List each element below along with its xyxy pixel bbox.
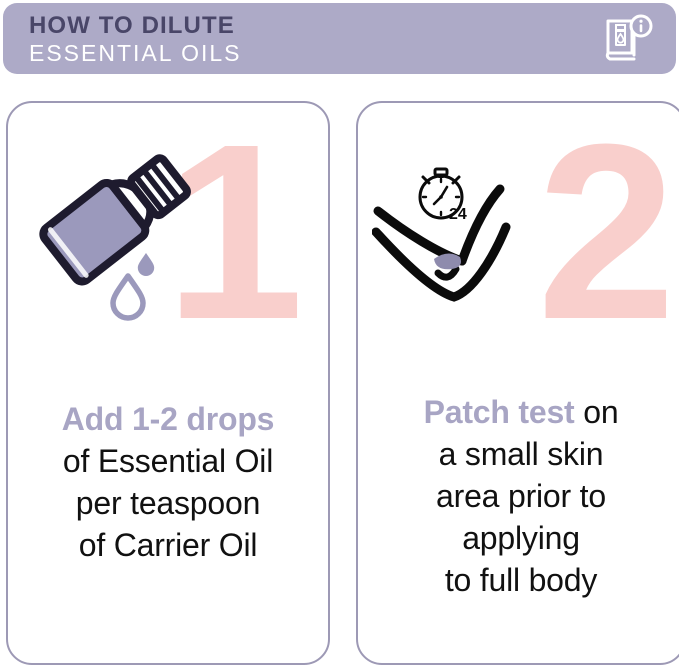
page-subtitle: ESSENTIAL OILS [29,39,242,67]
step-1-line-1: Add 1-2 drops [14,398,322,440]
step-number-2: 2 [537,107,676,357]
step-1-line-2: of Essential Oil [14,440,322,482]
stopwatch-hours-label: 24 [449,206,467,223]
step-2-line-1: Patch test on [364,391,678,433]
step-2-line-3: area prior to [364,475,678,517]
step-1-line-3: per teaspoon [14,482,322,524]
oil-bottle-dripping-icon [20,131,230,321]
step-card-1: 1 Add 1-2 drops of Essential Oil per tea… [6,101,330,665]
step-card-2: 2 24 [356,101,679,665]
header-title-block: HOW TO DILUTE ESSENTIAL OILS [29,12,242,67]
step-1-line-4: of Carrier Oil [14,524,322,566]
arm-patch-test-stopwatch-icon: 24 [372,149,552,314]
page-title: HOW TO DILUTE [29,12,242,39]
step-2-text: Patch test on a small skin area prior to… [358,391,679,601]
step-1-text: Add 1-2 drops of Essential Oil per teasp… [8,398,328,566]
header-banner: HOW TO DILUTE ESSENTIAL OILS [3,3,676,74]
step-2-line-5: to full body [364,559,678,601]
step-2-line-1-suffix: on [575,394,619,430]
oil-bottle-info-icon [600,11,656,67]
step-2-line-1-accent: Patch test [424,394,575,430]
step-2-line-4: applying [364,517,678,559]
step-2-line-2: a small skin [364,433,678,475]
